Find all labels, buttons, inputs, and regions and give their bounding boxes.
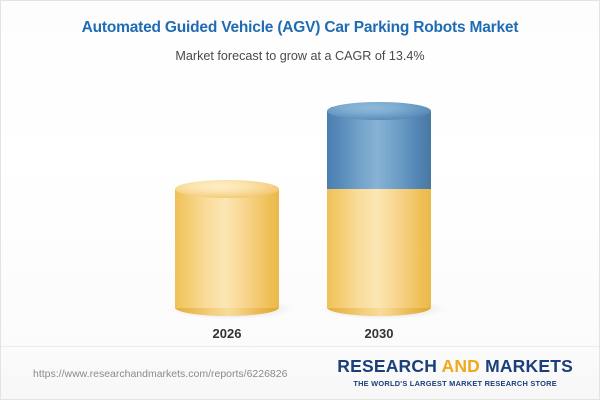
chart-footer: https://www.researchandmarkets.com/repor… <box>1 346 599 399</box>
brand-name: RESEARCH AND MARKETS <box>337 358 573 376</box>
brand-logo: RESEARCH AND MARKETS THE WORLD'S LARGEST… <box>337 358 573 388</box>
brand-word-markets: MARKETS <box>485 356 573 376</box>
cylinder-top-ellipse-2030 <box>327 102 431 120</box>
axis-label-2030: 2030 <box>365 326 394 341</box>
brand-word-research: RESEARCH <box>337 356 437 376</box>
chart-plot-area: USD 1.72 Billion 2026 USD 2.84 Billion <box>1 86 599 341</box>
brand-tagline: THE WORLD'S LARGEST MARKET RESEARCH STOR… <box>337 379 573 388</box>
cylinder-bar-2030[interactable] <box>327 111 431 308</box>
market-forecast-infographic: Automated Guided Vehicle (AGV) Car Parki… <box>0 0 600 400</box>
cylinder-top-ellipse-2026 <box>175 180 279 198</box>
cylinder-body-2026 <box>175 189 279 308</box>
axis-label-2026: 2026 <box>213 326 242 341</box>
cylinder-segment-growth-2030 <box>327 111 431 189</box>
cylinder-bar-2026[interactable] <box>175 189 279 308</box>
cylinder-body-2030 <box>327 111 431 308</box>
source-url-link[interactable]: https://www.researchandmarkets.com/repor… <box>33 368 287 380</box>
chart-subtitle: Market forecast to grow at a CAGR of 13.… <box>1 49 599 64</box>
cylinder-segment-base-2026 <box>175 189 279 308</box>
chart-header: Automated Guided Vehicle (AGV) Car Parki… <box>1 1 599 64</box>
brand-word-and: AND <box>441 356 480 376</box>
chart-title: Automated Guided Vehicle (AGV) Car Parki… <box>1 19 599 38</box>
cylinder-segment-base-2030 <box>327 189 431 308</box>
